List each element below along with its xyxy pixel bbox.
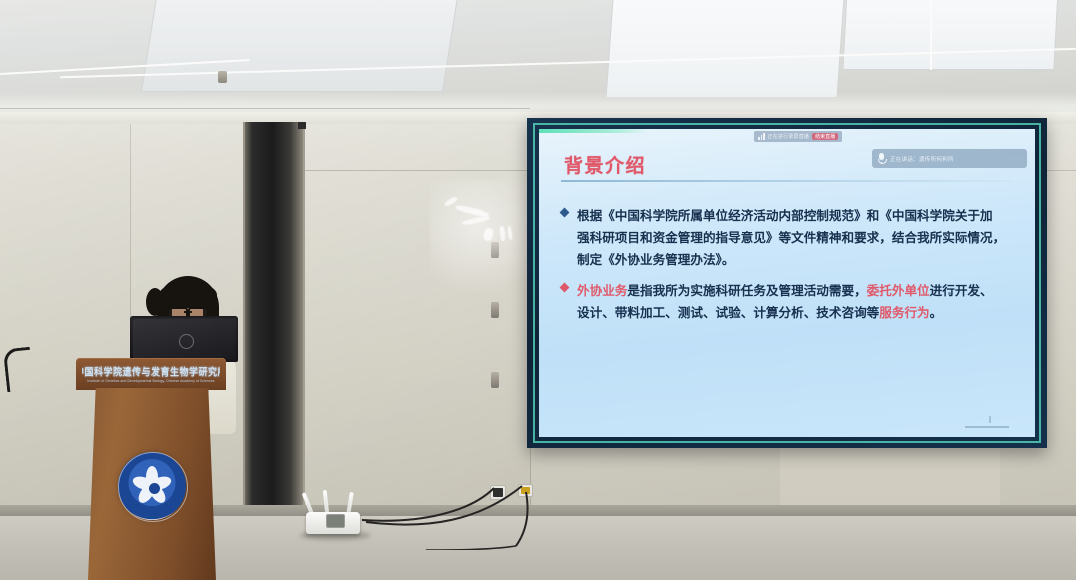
wifi-router xyxy=(306,512,360,534)
microphone-icon xyxy=(878,153,885,164)
podium-sign-chinese: 中国科学院遗传与发育生物学研究所 xyxy=(82,364,220,379)
body-text: 强科研项目和资金管理的指导意见》等文件精神和要求，结合我所实际情况， xyxy=(577,231,1005,245)
slide-footer-dot xyxy=(989,416,991,423)
highlighted-term: 委托外单位 xyxy=(867,284,930,298)
fire-sprinkler-icon xyxy=(218,71,227,83)
recording-status-text: 正在进行录屏直播 xyxy=(768,133,810,140)
door[interactable] xyxy=(243,122,305,542)
podium-top: 中国科学院遗传与发育生物学研究所 Institute of Genetics a… xyxy=(76,358,226,390)
ceiling-seam xyxy=(930,0,932,70)
door-stop xyxy=(298,122,306,129)
podium-sign: 中国科学院遗传与发育生物学研究所 Institute of Genetics a… xyxy=(82,363,220,385)
body-text: 设计、带料加工、测试、试验、计算分析、技术咨询等 xyxy=(577,306,879,320)
slide-bullet: 根据《中国科学院所属单位经济活动内部控制规范》和《中国科学院关于加强科研项目和资… xyxy=(561,205,1019,271)
more-options-icon[interactable]: ··· xyxy=(1012,156,1021,162)
router-display xyxy=(326,514,345,528)
body-text: 根据《中国科学院所属单位经济活动内部控制规范》和《中国科学院关于加 xyxy=(577,209,993,223)
body-text: 是指我所为实施科研任务及管理活动需要， xyxy=(627,284,866,298)
bullet-diamond-icon xyxy=(560,208,570,218)
body-text: 。 xyxy=(930,306,943,320)
body-text: 制定《外协业务管理办法》。 xyxy=(577,253,734,267)
speaking-status-text: 正在讲话：遗传所何利所 xyxy=(890,155,954,163)
highlighted-term: 外协业务 xyxy=(577,284,627,298)
bullet-line: 制定《外协业务管理办法》。 xyxy=(577,249,1019,271)
dell-logo-icon xyxy=(179,334,194,349)
gooseneck-microphone xyxy=(3,347,34,393)
cable-run xyxy=(330,480,540,550)
speaking-status-toolbar[interactable]: 正在讲话：遗传所何利所 ··· xyxy=(872,149,1027,168)
title-underline xyxy=(561,180,1013,182)
bullet-line: 外协业务是指我所为实施科研任务及管理活动需要，委托外单位进行开发、 xyxy=(577,280,1019,302)
slide-speck xyxy=(948,292,951,295)
laptop[interactable] xyxy=(130,316,238,362)
presentation-slide[interactable]: 正在进行录屏直播 结束直播 正在讲话：遗传所何利所 ··· 背景介绍 根据《中国… xyxy=(539,129,1035,437)
signal-bars-icon xyxy=(758,134,765,140)
cas-emblem-icon xyxy=(118,452,186,520)
bullet-line: 设计、带料加工、测试、试验、计算分析、技术咨询等服务行为。 xyxy=(577,302,1019,324)
slide-footer-rule xyxy=(965,426,1009,428)
ceiling-light-panel xyxy=(842,0,1059,70)
ceiling-light-panel xyxy=(606,0,847,98)
end-broadcast-button[interactable]: 结束直播 xyxy=(812,133,838,140)
slide-bullet: 外协业务是指我所为实施科研任务及管理活动需要，委托外单位进行开发、设计、带料加工… xyxy=(561,280,1019,324)
door-hinge xyxy=(491,372,499,388)
slide-title: 背景介绍 xyxy=(564,151,646,178)
bullet-line: 强科研项目和资金管理的指导意见》等文件精神和要求，结合我所实际情况， xyxy=(577,227,1019,249)
bullet-diamond-icon xyxy=(560,283,570,293)
presentation-photo-scene: 中国科学院遗传与发育生物学研究所 Institute of Genetics a… xyxy=(0,0,1076,580)
highlighted-term: 服务行为 xyxy=(879,306,929,320)
body-text: 进行开发、 xyxy=(930,284,993,298)
recording-status-badge[interactable]: 正在进行录屏直播 结束直播 xyxy=(754,131,842,142)
podium-sign-english: Institute of Genetics and Developmental … xyxy=(87,379,214,383)
ceiling-panel xyxy=(141,0,461,92)
emblem-center xyxy=(147,481,162,496)
wall-seam xyxy=(0,108,530,109)
door-hinge xyxy=(491,302,499,318)
slide-body-list: 根据《中国科学院所属单位经济活动内部控制规范》和《中国科学院关于加强科研项目和资… xyxy=(561,205,1019,333)
slide-accent-band xyxy=(539,129,647,133)
bullet-line: 根据《中国科学院所属单位经济活动内部控制规范》和《中国科学院关于加 xyxy=(577,205,1019,227)
